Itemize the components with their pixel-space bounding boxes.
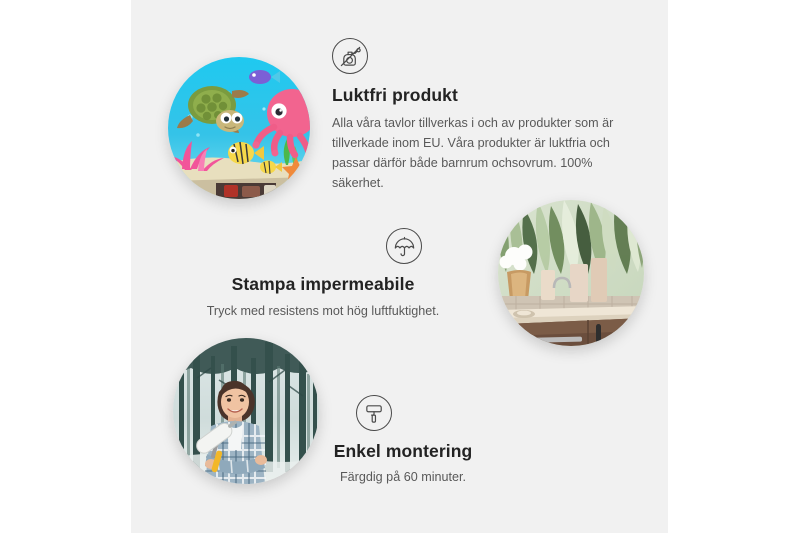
feature-description: Färgdig på 60 minuter. (258, 468, 548, 488)
paint-roller-icon (356, 395, 392, 431)
umbrella-icon (386, 228, 422, 264)
feature-stampa-impermeabile: Stampa impermeabile Tryck med resistens … (178, 228, 468, 322)
bathroom-tropical-wallpaper-photo (498, 200, 644, 346)
no-fragrance-icon (332, 38, 368, 74)
feature-luktfri-produkt: Luktfri produkt Alla våra tavlor tillver… (332, 38, 632, 193)
feature-enkel-montering: Enkel montering Färgdig på 60 minuter. (258, 395, 548, 488)
feature-title: Stampa impermeabile (178, 274, 468, 296)
feature-description: Alla våra tavlor tillverkas i och av pro… (332, 114, 622, 194)
feature-description: Tryck med resistens mot hög luftfuktighe… (178, 302, 468, 322)
promo-feature-panel: Luktfri produkt Alla våra tavlor tillver… (0, 0, 800, 533)
feature-title: Enkel montering (258, 441, 548, 463)
feature-title: Luktfri produkt (332, 85, 632, 107)
underwater-cartoon-mural-photo (168, 57, 310, 199)
